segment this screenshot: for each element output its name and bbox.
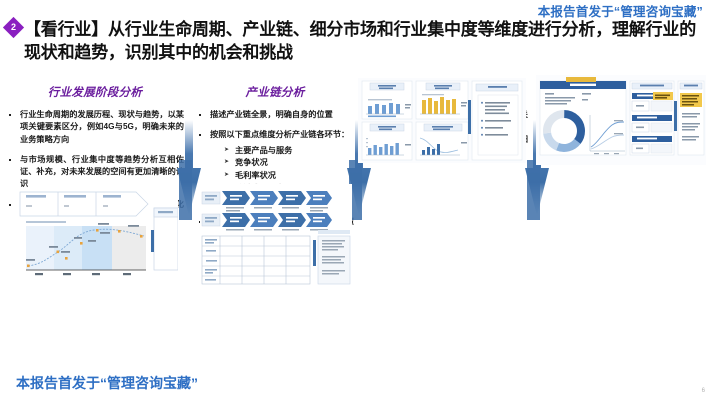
page-title: 【看行业】从行业生命周期、产业链、细分市场和行业集中度等维度进行分析，理解行业的… xyxy=(24,18,705,65)
list-item: 主要产品与服务 xyxy=(224,145,354,157)
watermark-bottom: 本报告首发于“管理咨询宝藏” xyxy=(16,373,198,393)
column-heading-value-chain: 产业链分析 xyxy=(196,84,354,100)
column-divider-arrow-icon-1 xyxy=(176,120,202,250)
column-heading-industry-stage: 行业发展阶段分析 xyxy=(6,84,184,100)
bullet-text: 描述产业链全景，明确自身的位置 xyxy=(210,110,333,119)
bullet-text: 与市场规模、行业集中度等趋势分析互相佐证、补充，对未来发展的空间有更加清晰的认识 xyxy=(20,155,184,189)
list-item: 描述产业链全景，明确自身的位置 xyxy=(196,109,354,121)
list-item: 与市场规模、行业集中度等趋势分析互相佐证、补充，对未来发展的空间有更加清晰的认识 xyxy=(6,154,184,191)
thumbnail-segment-dashboard-bar-charts xyxy=(358,78,526,163)
title-number-label: 2 xyxy=(11,23,16,32)
bullet-text: 行业生命周期的发展历程、现状与趋势，以某项关键要素区分，例如4G与5G，明确未来… xyxy=(20,110,184,144)
list-item: 毛利率状况 xyxy=(224,170,354,182)
bullet-text: 按照以下重点维度分析产业链各环节： xyxy=(210,130,349,139)
slide-title-row: 2 【看行业】从行业生命周期、产业链、细分市场和行业集中度等维度进行分析，理解行… xyxy=(6,18,705,65)
list-item: 行业生命周期的发展历程、现状与趋势，以某项关键要素区分，例如4G与5G，明确未来… xyxy=(6,109,184,146)
list-item: 竞争状况 xyxy=(224,157,354,169)
thumbnail-value-chain-chevron-table xyxy=(200,184,352,290)
slide-canvas: 本报告首发于“管理咨询宝藏” 2 【看行业】从行业生命周期、产业链、细分市场和行… xyxy=(0,0,711,400)
title-number-badge: 2 xyxy=(3,17,24,38)
thumbnail-concentration-donut-line-panels xyxy=(536,75,706,165)
page-number: 6 xyxy=(702,388,705,394)
thumbnail-lifecycle-s-curve-chart xyxy=(18,188,178,280)
